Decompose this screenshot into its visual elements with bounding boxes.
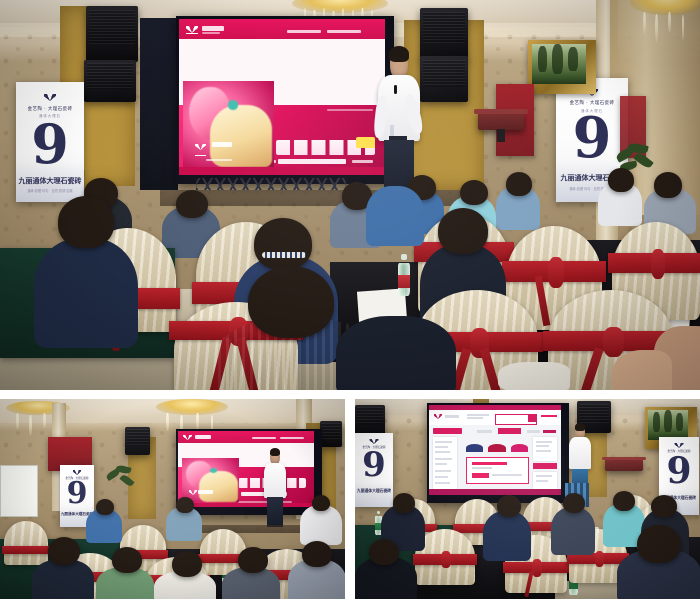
web-filter-panel[interactable] — [433, 437, 457, 489]
web-header — [429, 410, 561, 424]
attendee-head — [369, 539, 399, 565]
rollup-banner-left: 金艺陶 · 大理石瓷砖 通体大理石 9 九丽通体大理石瓷砖 通体·纹理·均匀 ·… — [16, 82, 84, 202]
attendee-hand — [612, 350, 672, 390]
projection-screen-frame — [176, 429, 322, 515]
pa-speaker-upper-right — [420, 8, 468, 60]
promo-callout-button[interactable] — [472, 473, 489, 479]
banner-subline: 通体·纹理·均匀 · 自然·质感·如真 — [27, 188, 72, 193]
lectern — [605, 459, 643, 471]
web-side-panel[interactable] — [533, 437, 557, 460]
banner-hero-numeral: 9 — [67, 482, 88, 507]
attendee-body — [551, 507, 595, 555]
projection-screen — [178, 431, 314, 507]
pa-speaker-upper-left — [86, 6, 138, 62]
slide-footer-bar — [179, 167, 385, 175]
slide-phone-number: 0757-8288 9886 — [179, 105, 180, 106]
banner-hero-numeral: 9 — [362, 452, 386, 480]
banner-hero-numeral: 9 — [31, 122, 69, 166]
projection-screen: 金艺陶 成工购物十年 品牌形象升级 今生今世 限时惠 0757-8288 988… — [179, 19, 385, 175]
crown-icon — [189, 490, 197, 495]
attendee-head — [608, 168, 634, 192]
crown-icon — [183, 435, 192, 440]
website-dashboard-slide: 最新空间搭配方案 2017-05 · 上新 立即查看 免费申请 — [429, 405, 561, 495]
microphone — [394, 85, 397, 94]
banner-headline: 九丽通体大理石瓷砖 — [357, 488, 391, 494]
promo-callout-meta: 2017-05 · 上新 — [467, 458, 468, 459]
pa-speaker — [320, 421, 342, 447]
web-footer — [429, 489, 561, 495]
web-side-panel-secondary[interactable] — [533, 472, 557, 490]
attendee-body — [300, 505, 342, 545]
napkin — [498, 362, 570, 390]
pa-speaker-lower-right — [420, 56, 468, 102]
banner-hero-numeral: 9 — [573, 116, 612, 162]
attendee-head — [302, 541, 332, 567]
pa-speaker — [355, 405, 385, 435]
slide-crown-icon-small — [195, 144, 206, 150]
fan-icon-navy[interactable] — [466, 444, 483, 452]
fan-icon-magenta[interactable] — [511, 444, 528, 452]
banner-crown-icon — [370, 439, 379, 444]
thumbnail-wide-room-view[interactable]: Wide view of the same seminar room showi… — [0, 399, 345, 599]
photo-collage-page: Seminar room: presenter on stage speakin… — [0, 0, 700, 599]
slide-header-tagline: 成工购物十年 品牌形象升级 — [179, 19, 180, 20]
attendee-head — [172, 551, 202, 577]
projection-screen-frame: 金艺陶 成工购物十年 品牌形象升级 今生今世 限时惠 0757-8288 988… — [176, 16, 394, 184]
attendee-head — [654, 172, 682, 198]
presenter — [378, 75, 420, 193]
slide-phone-label: 订购热线 — [179, 105, 180, 106]
main-event-photo: Seminar room: presenter on stage speakin… — [0, 0, 700, 390]
attendee-head — [438, 208, 488, 254]
attendee-head — [176, 497, 194, 513]
web-nav-secondary[interactable] — [498, 428, 522, 434]
web-nav-primary[interactable] — [433, 428, 462, 434]
attendee-head — [497, 495, 521, 517]
presenter-head — [390, 48, 408, 79]
banner-headline: 九丽通体大理石瓷砖 — [19, 176, 82, 186]
search-icon[interactable] — [528, 414, 536, 422]
attendee-head — [393, 493, 415, 513]
attendee-head — [613, 491, 635, 511]
banner-crown-icon — [675, 443, 684, 448]
attendee-head — [112, 547, 142, 573]
attendee-head — [460, 180, 488, 205]
attendee-body — [483, 511, 531, 561]
lectern — [478, 112, 524, 130]
promo-callout[interactable]: 最新空间搭配方案 2017-05 · 上新 立即查看 — [466, 457, 529, 484]
promo-callout-title: 最新空间搭配方案 — [467, 458, 468, 459]
attendee-body — [336, 316, 456, 390]
fan-icon-crimson[interactable] — [488, 444, 505, 452]
attendee-head — [58, 196, 114, 248]
attendee-head — [506, 172, 532, 196]
banner-hero-numeral: 9 — [666, 457, 691, 487]
thumbnail-website-slide[interactable]: Audience watching a website dashboard sl… — [355, 399, 700, 599]
slide-headline-badge — [356, 137, 375, 148]
attendee-body — [366, 186, 424, 246]
web-logo-icon — [434, 414, 442, 419]
attendee-head — [637, 525, 681, 563]
attendee-head — [238, 547, 268, 573]
framed-painting — [528, 40, 596, 94]
banner-crown-icon — [44, 94, 56, 101]
collage-gutter-vertical — [345, 390, 355, 599]
web-side-button[interactable] — [533, 463, 557, 469]
banquet-chair — [4, 521, 48, 565]
potted-plant — [104, 465, 136, 499]
presenter — [264, 463, 286, 525]
crystal-chandelier-right — [630, 0, 700, 50]
water-bottle — [398, 254, 410, 296]
attendee-head — [312, 495, 330, 511]
attendee-head — [176, 190, 208, 218]
slide-header-bar: 金艺陶 成工购物十年 品牌形象升级 — [179, 19, 385, 39]
attendee-head — [651, 495, 677, 517]
slide-footer-note: 地址：佛山市 禅城区 陶博大道 — [179, 105, 180, 106]
attendee-head — [563, 493, 585, 513]
wall-notice-board — [0, 465, 38, 517]
attendee-head — [48, 537, 80, 565]
attendee-head — [248, 266, 334, 338]
slide-brand-name: 金艺陶 — [179, 19, 180, 20]
banner-crown-icon — [73, 470, 81, 475]
screen-stand — [196, 178, 346, 190]
pa-speaker — [125, 427, 150, 455]
attendee-body — [32, 559, 94, 599]
pa-speaker-lower-left — [84, 60, 136, 102]
attendee-head — [96, 499, 114, 515]
stage-curtain-left — [140, 18, 178, 190]
rollup-banner-left: 金艺陶 · 大理石瓷砖 9 九丽通体大理石瓷砖 — [355, 433, 393, 507]
projection-screen-frame: 最新空间搭配方案 2017-05 · 上新 立即查看 免费申请 — [427, 403, 569, 503]
attendee-head — [254, 218, 312, 270]
attendee-body — [34, 238, 138, 348]
attendee-necklace — [262, 252, 306, 258]
